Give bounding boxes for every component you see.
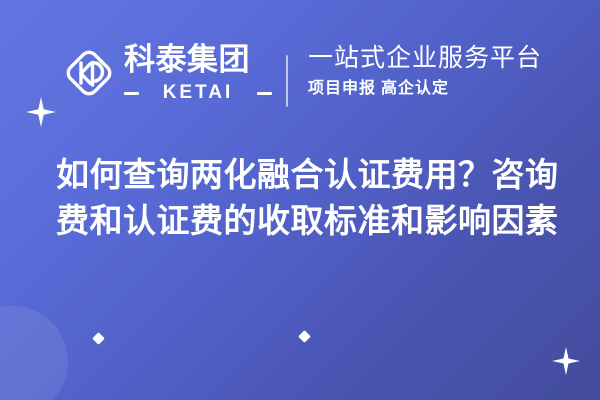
brand-name-cn: 科泰集团 — [124, 42, 276, 78]
header-divider — [286, 55, 288, 107]
diamond-decoration-left — [92, 332, 105, 345]
ketai-diamond-logo-icon — [61, 45, 117, 101]
tagline-secondary: 项目申报 高企认定 — [308, 79, 542, 99]
background-circle-decoration — [0, 306, 68, 400]
banner-header: 科泰集团 KETAI 一站式企业服务平台 项目申报 高企认定 — [0, 36, 600, 124]
tagline-block: 一站式企业服务平台 项目申报 高企认定 — [308, 42, 542, 99]
sparkle-icon-header — [26, 97, 56, 127]
brand-block: 科泰集团 KETAI — [124, 42, 276, 104]
diamond-decoration-center — [298, 330, 311, 343]
headline-line-2: 费和认证费的收取标准和影响因素 — [56, 198, 552, 244]
brand-name-en-row: KETAI — [124, 82, 272, 104]
headline-block: 如何查询两化融合认证费用？咨询 费和认证费的收取标准和影响因素 — [56, 152, 552, 244]
brand-rule-left — [124, 92, 139, 95]
brand-rule-right — [257, 92, 272, 95]
brand-name-en: KETAI — [145, 82, 251, 104]
promo-banner: 科泰集团 KETAI 一站式企业服务平台 项目申报 高企认定 如何查询两化融合认… — [0, 0, 600, 400]
tagline-primary: 一站式企业服务平台 — [308, 42, 542, 74]
headline-line-1: 如何查询两化融合认证费用？咨询 — [56, 152, 552, 198]
sparkle-icon-bottom-right — [552, 347, 580, 375]
